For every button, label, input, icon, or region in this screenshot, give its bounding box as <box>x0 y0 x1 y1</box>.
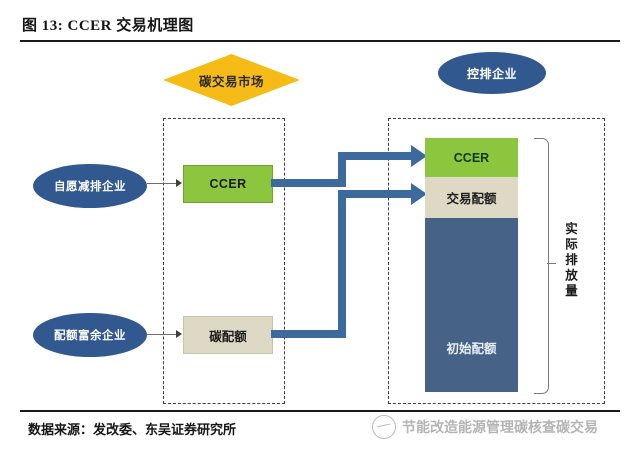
stack-segment-initial-quota-label: 初始配额 <box>446 338 496 357</box>
entity-surplus-quota: 配额富余企业 <box>33 313 147 357</box>
connector-quota-vertical <box>338 190 346 338</box>
watermark-text: 节能改造能源管理碳核查碳交易 <box>402 417 598 437</box>
brace-icon <box>534 138 549 394</box>
entity-controlled-emission: 控排企业 <box>438 52 546 94</box>
arrowhead-icon <box>176 330 182 338</box>
header-divider <box>20 40 620 42</box>
stack-segment-traded-quota: 交易配额 <box>425 177 518 218</box>
connector-ccer-horizontal-1 <box>271 179 346 187</box>
diamond-label: 碳交易市场 <box>163 54 300 106</box>
arrow-voluntary-to-ccer <box>147 183 177 184</box>
watermark: 节能改造能源管理碳核查碳交易 <box>372 415 598 439</box>
connector-ccer-horizontal-2 <box>338 152 414 160</box>
actual-emission-label: 实际排放量 <box>558 222 576 300</box>
footer-divider <box>20 410 620 412</box>
carbon-market-diamond: 碳交易市场 <box>163 54 300 106</box>
source-note: 数据来源：发改委、东吴证券研究所 <box>28 419 236 438</box>
arrow-surplus-to-quota <box>147 334 177 335</box>
box-ccer-supply: CCER <box>183 165 273 203</box>
connector-quota-horizontal-1 <box>271 330 346 338</box>
stack-segment-ccer: CCER <box>425 138 518 177</box>
arrowhead-icon <box>176 179 182 187</box>
circle-logo-icon <box>372 415 396 439</box>
figure-canvas: 图 13: CCER 交易机理图 碳交易市场 自愿减排企业 配额富余企业 控排企… <box>0 0 640 452</box>
brace-nub-icon <box>547 263 556 264</box>
connector-quota-horizontal-2 <box>338 190 414 198</box>
entity-voluntary-reduction: 自愿减排企业 <box>33 164 147 208</box>
page-title: 图 13: CCER 交易机理图 <box>22 14 194 35</box>
stack-segment-initial-quota: 初始配额 <box>425 218 518 392</box>
left-dashed-zone <box>163 118 285 404</box>
box-carbon-quota-supply: 碳配额 <box>183 316 273 354</box>
